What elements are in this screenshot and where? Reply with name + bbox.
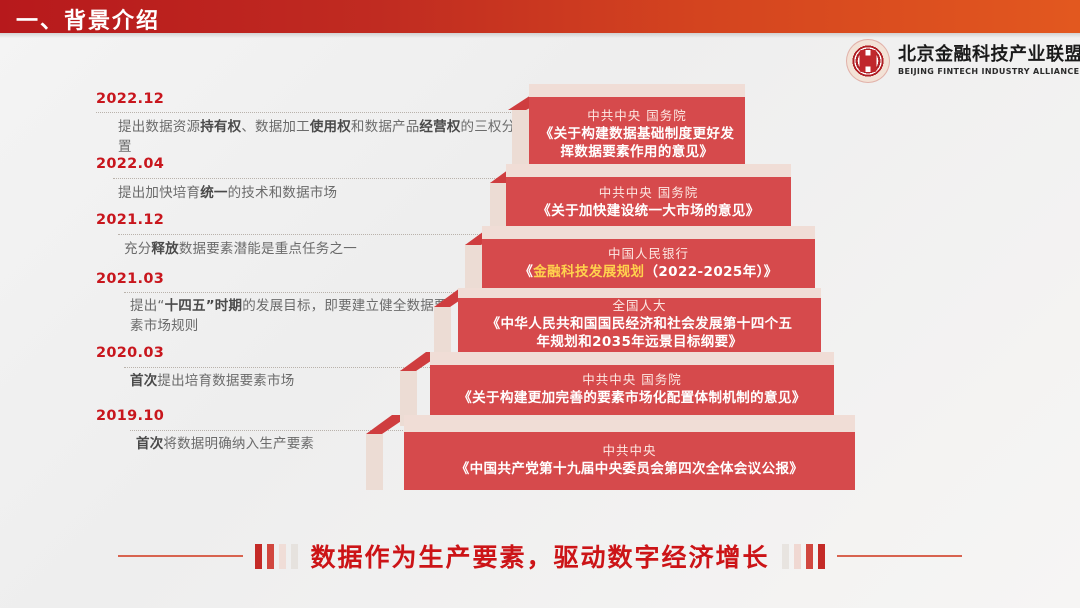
banner-rule-right <box>837 555 962 557</box>
block-doc-2: 《金融科技发展规划（2022-2025年）》 <box>509 263 787 281</box>
block-org-2: 中国人民银行 <box>608 246 689 263</box>
timeline-year-0: 2022.12 <box>96 91 164 107</box>
block-top-face-4 <box>430 352 834 365</box>
banner-tick-1 <box>794 544 801 569</box>
bottom-banner: 数据作为生产要素，驱动数字经济增长 <box>0 528 1080 584</box>
block-doc-1: 《关于加快建设统一大市场的意见》 <box>527 202 769 220</box>
banner-text: 数据作为生产要素，驱动数字经济增长 <box>310 538 769 574</box>
banner-ticks-left <box>255 544 298 569</box>
timeline-desc-1: 提出加快培育统一的技术和数据市场 <box>118 183 518 203</box>
timeline-year-2: 2021.12 <box>96 212 164 228</box>
pyramid-block-2: 中国人民银行 《金融科技发展规划（2022-2025年）》 <box>482 226 815 288</box>
timeline-rule-1 <box>113 178 513 179</box>
timeline-rule-2 <box>118 234 494 235</box>
timeline-rule-4 <box>124 367 446 368</box>
pyramid-block-3: 全国人大 《中华人民共和国国民经济和社会发展第十四个五年规划和2035年远景目标… <box>458 288 821 352</box>
brand-logo: 北京金融科技产业联盟 BEIJING FINTECH INDUSTRY ALLI… <box>846 38 1068 84</box>
block-org-0: 中共中央 国务院 <box>587 108 686 125</box>
pyramid-block-0: 中共中央 国务院 《关于构建数据基础制度更好发挥数据要素作用的意见》 <box>529 84 745 172</box>
block-org-5: 中共中央 <box>602 443 656 460</box>
logo-name-cn: 北京金融科技产业联盟 <box>898 46 1080 65</box>
banner-tick-0 <box>782 544 789 569</box>
banner-tick-2 <box>279 544 286 569</box>
block-doc-3: 《中华人民共和国国民经济和社会发展第十四个五年规划和2035年远景目标纲要》 <box>477 315 803 351</box>
banner-tick-0 <box>255 544 262 569</box>
timeline-year-3: 2021.03 <box>96 271 164 287</box>
banner-tick-1 <box>267 544 274 569</box>
seal-icon <box>846 39 890 83</box>
pyramid-block-4: 中共中央 国务院 《关于构建更加完善的要素市场化配置体制机制的意见》 <box>430 352 834 415</box>
timeline-desc-0: 提出数据资源持有权、数据加工使用权和数据产品经营权的三权分置 <box>118 117 518 158</box>
timeline-rule-3 <box>124 292 474 293</box>
timeline-desc-3: 提出“十四五”时期的发展目标，即要建立健全数据要素市场规则 <box>130 296 460 337</box>
timeline-rule-0 <box>96 112 523 113</box>
pyramid-block-5: 中共中央 《中国共产党第十九届中央委员会第四次全体会议公报》 <box>404 415 855 490</box>
block-org-4: 中共中央 国务院 <box>582 372 681 389</box>
timeline-year-1: 2022.04 <box>96 156 164 172</box>
block-doc-5: 《中国共产党第十九届中央委员会第四次全体会议公报》 <box>446 460 814 478</box>
slide-canvas: 一、背景介绍 北京金融科技产业联盟 BEIJING FINTECH INDUST… <box>0 0 1080 608</box>
logo-text: 北京金融科技产业联盟 BEIJING FINTECH INDUSTRY ALLI… <box>898 46 1080 76</box>
banner-tick-3 <box>818 544 825 569</box>
block-body-3: 全国人大 《中华人民共和国国民经济和社会发展第十四个五年规划和2035年远景目标… <box>458 298 821 352</box>
banner-tick-2 <box>806 544 813 569</box>
slide-header-bar <box>0 0 1080 33</box>
block-body-2: 中国人民银行 《金融科技发展规划（2022-2025年）》 <box>482 239 815 288</box>
block-doc-0: 《关于构建数据基础制度更好发挥数据要素作用的意见》 <box>530 125 745 161</box>
pyramid-block-1: 中共中央 国务院 《关于加快建设统一大市场的意见》 <box>506 164 791 228</box>
block-body-5: 中共中央 《中国共产党第十九届中央委员会第四次全体会议公报》 <box>404 432 855 490</box>
timeline-desc-2: 充分释放数据要素潜能是重点任务之一 <box>124 239 524 259</box>
banner-ticks-right <box>782 544 825 569</box>
block-top-face-5 <box>404 415 855 432</box>
block-org-3: 全国人大 <box>612 298 666 315</box>
block-doc-4: 《关于构建更加完善的要素市场化配置体制机制的意见》 <box>448 389 816 407</box>
stair-riser-5 <box>366 434 383 490</box>
block-top-face-0 <box>529 84 745 97</box>
block-top-face-1 <box>506 164 791 177</box>
block-org-1: 中共中央 国务院 <box>599 185 698 202</box>
banner-rule-left <box>118 555 243 557</box>
page-title: 一、背景介绍 <box>16 3 160 35</box>
block-top-face-3 <box>458 288 821 298</box>
timeline-year-4: 2020.03 <box>96 345 164 361</box>
block-body-0: 中共中央 国务院 《关于构建数据基础制度更好发挥数据要素作用的意见》 <box>529 97 745 172</box>
block-body-1: 中共中央 国务院 《关于加快建设统一大市场的意见》 <box>506 177 791 228</box>
stair-tread-5 <box>366 415 404 434</box>
logo-name-en: BEIJING FINTECH INDUSTRY ALLIANCE <box>898 67 1080 76</box>
block-top-face-2 <box>482 226 815 239</box>
block-body-4: 中共中央 国务院 《关于构建更加完善的要素市场化配置体制机制的意见》 <box>430 365 834 415</box>
timeline-year-5: 2019.10 <box>96 408 164 424</box>
banner-tick-3 <box>291 544 298 569</box>
